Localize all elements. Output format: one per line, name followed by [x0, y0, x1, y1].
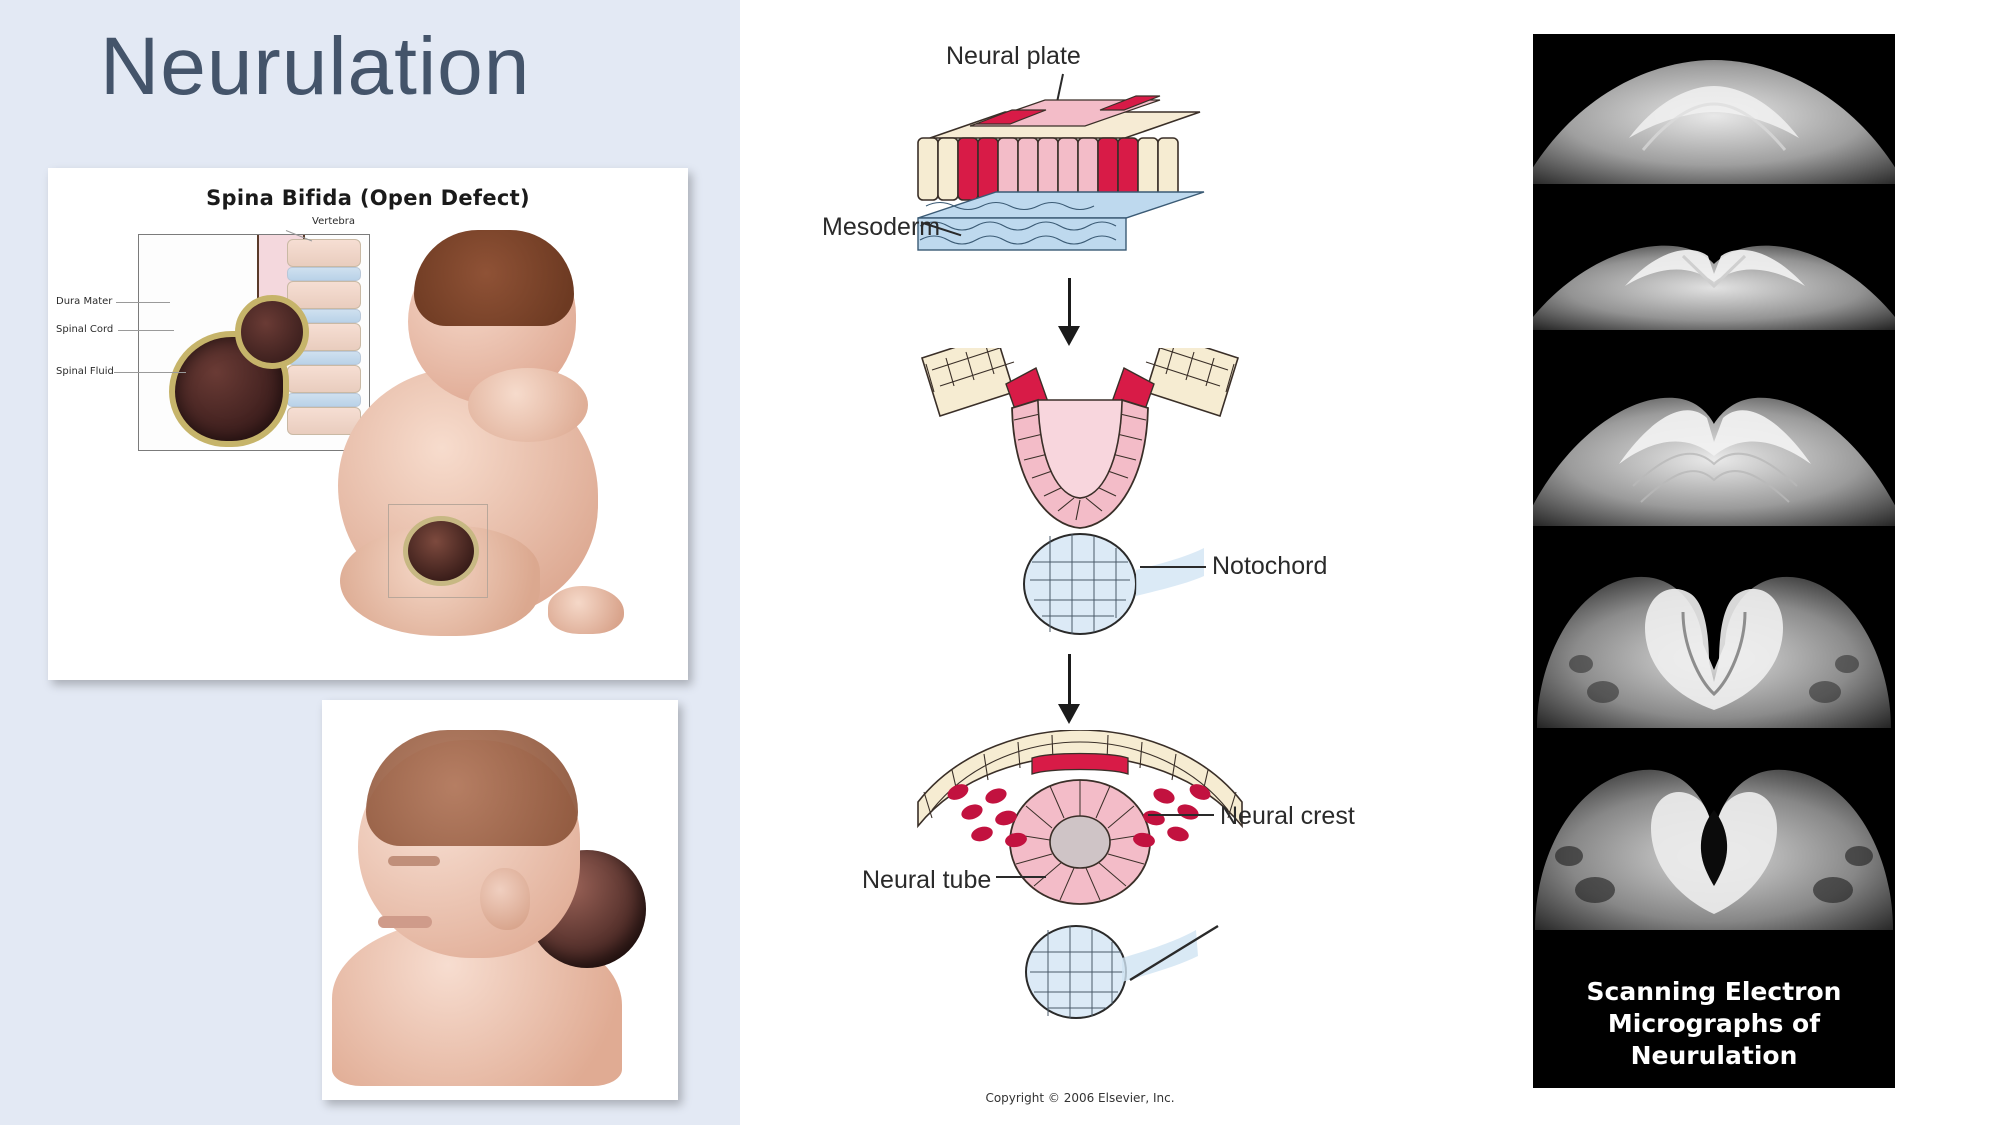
sem-strip-caption: Scanning Electron Micrographs of Neurula… — [1533, 976, 1895, 1072]
neural-tube-stage-svg — [800, 730, 1360, 1080]
stage-arrow-1-shaft — [1068, 278, 1071, 330]
label-neural-tube: Neural tube — [862, 866, 991, 895]
label-mesoderm: Mesoderm — [822, 213, 940, 242]
leader-line-notochord — [1140, 566, 1206, 568]
sem-panel-5[interactable] — [1533, 740, 1895, 938]
label-vertebra: Vertebra — [312, 216, 355, 227]
page-title: Neurulation — [100, 22, 530, 112]
defect-callout-box — [388, 504, 488, 598]
diagram-copyright: Copyright © 2006 Elsevier, Inc. — [800, 1091, 1360, 1105]
sem-caption-line-1: Scanning Electron — [1533, 976, 1895, 1008]
leader-line-spinal-fluid — [114, 372, 186, 373]
label-notochord: Notochord — [1212, 552, 1327, 581]
meningeal-sac-neck — [235, 295, 309, 369]
sem-micrograph-strip[interactable]: Scanning Electron Micrographs of Neurula… — [1533, 34, 1895, 1088]
stage-arrow-2-shaft — [1068, 654, 1071, 708]
neural-fold-stage-svg — [800, 348, 1360, 648]
sem-panel-2[interactable] — [1533, 190, 1895, 346]
spina-bifida-title: Spina Bifida (Open Defect) — [48, 186, 688, 210]
infant-ear — [480, 868, 530, 930]
leader-line-spinal-cord — [118, 330, 174, 331]
slide-canvas: Neurulation Spina Bifida (Open Defect) D… — [0, 0, 2000, 1125]
label-spinal-cord: Spinal Cord — [56, 324, 113, 335]
infant-hair — [366, 730, 578, 846]
neurulation-stages-diagram[interactable]: Neural plate — [800, 0, 1360, 1125]
spina-bifida-cross-section-inset — [138, 234, 370, 451]
stage-arrow-2-head — [1058, 704, 1080, 724]
neural-plate-stage-svg — [800, 60, 1360, 310]
leader-line-dura-mater — [116, 302, 170, 303]
infant-mouth — [378, 916, 432, 928]
infant-arm — [468, 368, 588, 442]
sem-panel-3[interactable] — [1533, 348, 1895, 540]
sem-caption-line-3: Neurulation — [1533, 1040, 1895, 1072]
intervertebral-disc — [287, 267, 361, 281]
encephalocele-figure[interactable] — [322, 700, 678, 1100]
vertebra-body — [287, 365, 361, 393]
sem-panel-1[interactable] — [1533, 34, 1895, 188]
label-spinal-fluid: Spinal Fluid — [56, 366, 114, 377]
leader-line-neural-tube — [996, 876, 1046, 878]
infant-eye — [388, 856, 440, 866]
label-neural-crest: Neural crest — [1220, 802, 1355, 831]
stage-arrow-1-head — [1058, 326, 1080, 346]
infant-hair — [414, 230, 574, 326]
leader-line-neural-crest — [1148, 814, 1214, 816]
label-dura-mater: Dura Mater — [56, 296, 112, 307]
sem-caption-line-2: Micrographs of — [1533, 1008, 1895, 1040]
vertebra-body — [287, 239, 361, 267]
vertebra-body — [287, 407, 361, 435]
intervertebral-disc — [287, 393, 361, 407]
infant-foot — [548, 586, 624, 634]
sem-panel-4[interactable] — [1533, 542, 1895, 738]
spina-bifida-figure[interactable]: Spina Bifida (Open Defect) Dura Mater Sp… — [48, 168, 688, 680]
